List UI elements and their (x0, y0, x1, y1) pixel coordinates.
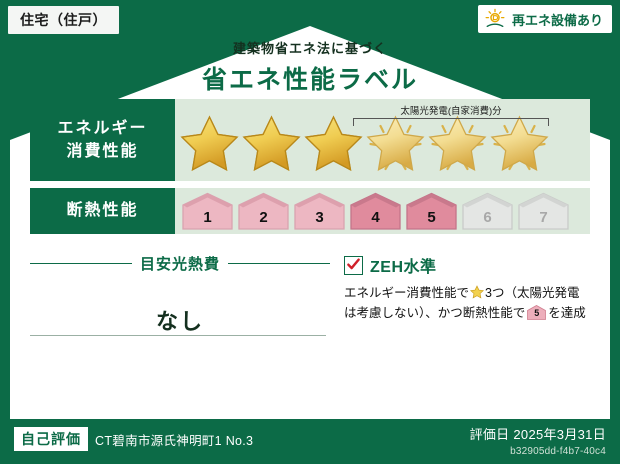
metrics-rows: エネルギー 消費性能 太陽光発電(自家消費)分 断熱性能 1234567 (30, 99, 590, 241)
utility-cost-box: 目安光熱費 なし (30, 253, 330, 336)
footer-right: 評価日 2025年3月31日 b32905dd-f4b7-40c4 (470, 424, 606, 457)
zeh-label: ZEH水準 (370, 253, 437, 277)
energy-row-body: 太陽光発電(自家消費)分 (175, 99, 590, 181)
insulation-row-body: 1234567 (175, 188, 590, 234)
utility-cost-value: なし (30, 304, 330, 336)
energy-consumption-row: エネルギー 消費性能 太陽光発電(自家消費)分 (30, 99, 590, 181)
energy-performance-label: 住宅（住戸） 再エネ設備あり 建築物省エネ法に基づく 省エネ性能ラベル (0, 0, 620, 464)
zeh-description: エネルギー消費性能で3つ（太陽光発電は考慮しない）、かつ断熱性能で5を達成 (344, 283, 590, 324)
solar-bracket-label: 太陽光発電(自家消費)分 (353, 103, 549, 117)
solar-bracket: 太陽光発電(自家消費)分 (353, 103, 549, 126)
insulation-level-number: 6 (461, 209, 514, 226)
bottom-section: 目安光熱費 なし ZEH水準 エネルギー消費性能で3つ（太陽光発電は考慮しない）… (30, 253, 590, 336)
energy-label-line1: エネルギー (57, 117, 147, 140)
title-subtitle: 建築物省エネ法に基づく (0, 38, 620, 57)
insulation-level-number: 4 (349, 209, 402, 226)
star-filled (241, 114, 302, 172)
insulation-level-number: 2 (237, 209, 290, 226)
insulation-level-inactive: 6 (461, 192, 514, 230)
utility-cost-heading: 目安光熱費 (30, 253, 330, 274)
footer-left: 自己評価 CT碧南市源氏神明町1 No.3 (14, 427, 253, 451)
label-uuid: b32905dd-f4b7-40c4 (470, 446, 606, 457)
zeh-desc-part2: は考慮しない）、かつ断熱性能で (344, 306, 525, 320)
insulation-level-number: 1 (181, 209, 234, 226)
sun-icon (484, 8, 506, 30)
insulation-level-number: 3 (293, 209, 346, 226)
zeh-desc-part3: を達成 (548, 306, 586, 320)
mini-house-level: 5 (527, 306, 546, 321)
mini-house-icon: 5 (527, 305, 546, 320)
self-evaluation-badge: 自己評価 (14, 427, 88, 451)
heading-rule-right (228, 263, 330, 264)
zeh-checkbox (344, 256, 363, 275)
check-icon (346, 257, 361, 272)
insulation-level-number: 7 (517, 209, 570, 226)
insulation-level-inactive: 7 (517, 192, 570, 230)
zeh-desc-stars: 3つ（太陽光発電 (485, 286, 579, 300)
zeh-box: ZEH水準 エネルギー消費性能で3つ（太陽光発電は考慮しない）、かつ断熱性能で5… (330, 253, 590, 336)
insulation-row: 断熱性能 1234567 (30, 188, 590, 234)
evaluation-date: 評価日 2025年3月31日 (470, 424, 606, 443)
renewable-badge-label: 再エネ設備あり (512, 10, 603, 29)
star-filled (179, 114, 240, 172)
solar-bracket-line (353, 118, 549, 126)
insulation-level-active: 2 (237, 192, 290, 230)
utility-cost-title: 目安光熱費 (132, 253, 228, 274)
mini-star-icon (470, 285, 484, 299)
insulation-level-scale: 1234567 (175, 192, 570, 230)
utility-cost-underline (30, 335, 326, 336)
insulation-label: 断熱性能 (66, 199, 138, 222)
renewable-equipment-badge: 再エネ設備あり (478, 5, 612, 33)
property-address: CT碧南市源氏神明町1 No.3 (95, 430, 253, 449)
heading-rule-left (30, 263, 132, 264)
zeh-desc-part1: エネルギー消費性能で (344, 286, 469, 300)
building-type-badge: 住宅（住戸） (8, 6, 119, 34)
insulation-level-active: 3 (293, 192, 346, 230)
title-main: 省エネ性能ラベル (0, 60, 620, 96)
label-footer: 自己評価 CT碧南市源氏神明町1 No.3 評価日 2025年3月31日 b32… (0, 419, 620, 464)
insulation-level-number: 5 (405, 209, 458, 226)
energy-row-label: エネルギー 消費性能 (30, 99, 175, 181)
insulation-level-active: 5 (405, 192, 458, 230)
zeh-title-row: ZEH水準 (344, 253, 590, 277)
energy-label-line2: 消費性能 (66, 140, 138, 163)
insulation-level-active: 4 (349, 192, 402, 230)
insulation-row-label: 断熱性能 (30, 188, 175, 234)
insulation-level-active: 1 (181, 192, 234, 230)
label-title: 建築物省エネ法に基づく 省エネ性能ラベル (0, 38, 620, 96)
